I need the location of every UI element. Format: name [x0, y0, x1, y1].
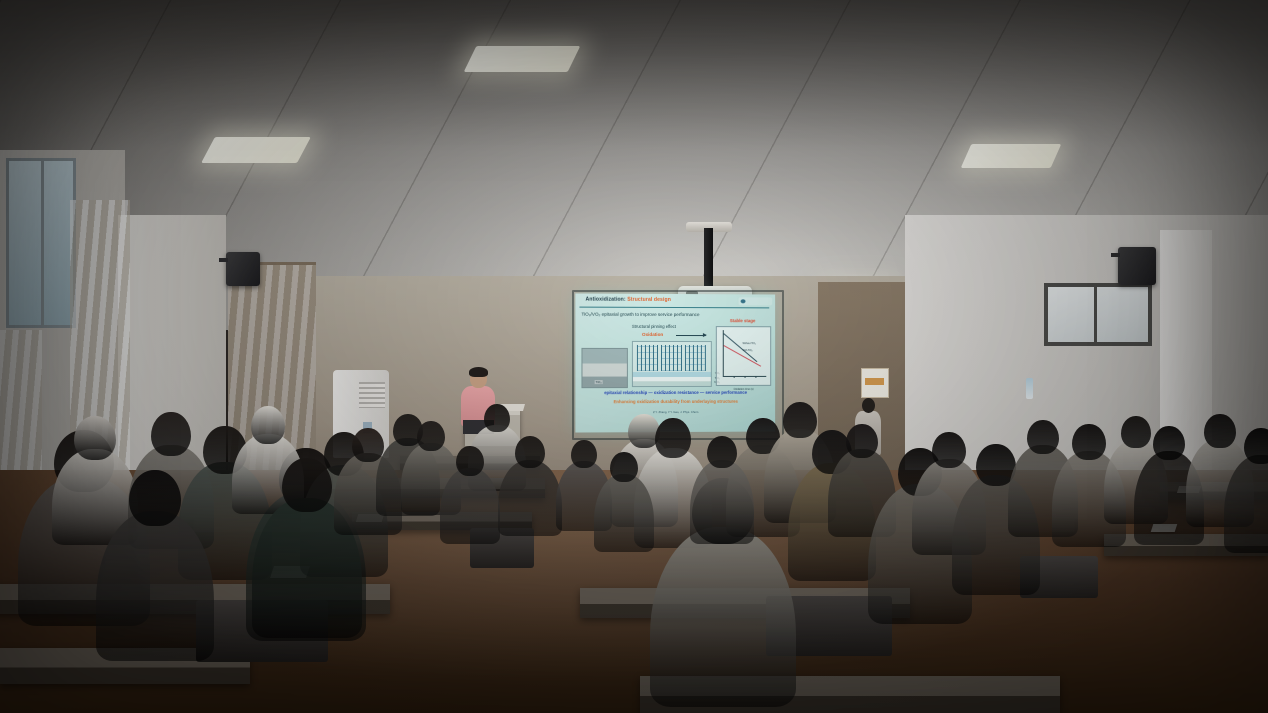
person-head [484, 404, 510, 432]
person-head [1153, 426, 1185, 460]
student [440, 446, 500, 522]
student [1224, 428, 1268, 526]
student [96, 470, 214, 620]
person-head [610, 452, 638, 482]
lecture-hall-photo: Antioxidization: Structural design TiO₂/… [0, 0, 1268, 713]
person-torso [440, 468, 500, 544]
person-head [456, 446, 484, 476]
interior-window [1044, 283, 1152, 346]
person-torso [650, 527, 796, 707]
person-head [74, 416, 116, 460]
person-head [707, 436, 737, 468]
person-head [282, 458, 332, 512]
air-conditioner-vents [359, 382, 385, 408]
ceiling-panel-light-far-right [961, 144, 1062, 168]
ceiling-panel-light-left [201, 137, 311, 163]
person-head [1072, 424, 1106, 460]
person-head [251, 406, 285, 444]
person-head [655, 418, 691, 458]
person-torso [498, 460, 562, 536]
person-head [515, 436, 545, 468]
projector-mount-pole [704, 228, 713, 290]
water-bottle [1026, 378, 1033, 399]
person-torso [690, 460, 754, 544]
student [498, 436, 562, 512]
person-torso [1224, 455, 1268, 553]
wall-speaker-right [1118, 247, 1156, 285]
student [594, 452, 654, 530]
person-head [129, 470, 181, 526]
standing-observer-head [862, 398, 875, 413]
student [690, 436, 754, 520]
person-head [1244, 428, 1268, 464]
presenter-hair [469, 367, 488, 377]
wall-speaker-left [226, 252, 260, 286]
wall-notice [861, 368, 889, 398]
person-torso [594, 474, 654, 552]
ceiling-panel-light-center [464, 46, 581, 72]
person-torso [96, 511, 214, 661]
exterior-window [6, 158, 76, 328]
